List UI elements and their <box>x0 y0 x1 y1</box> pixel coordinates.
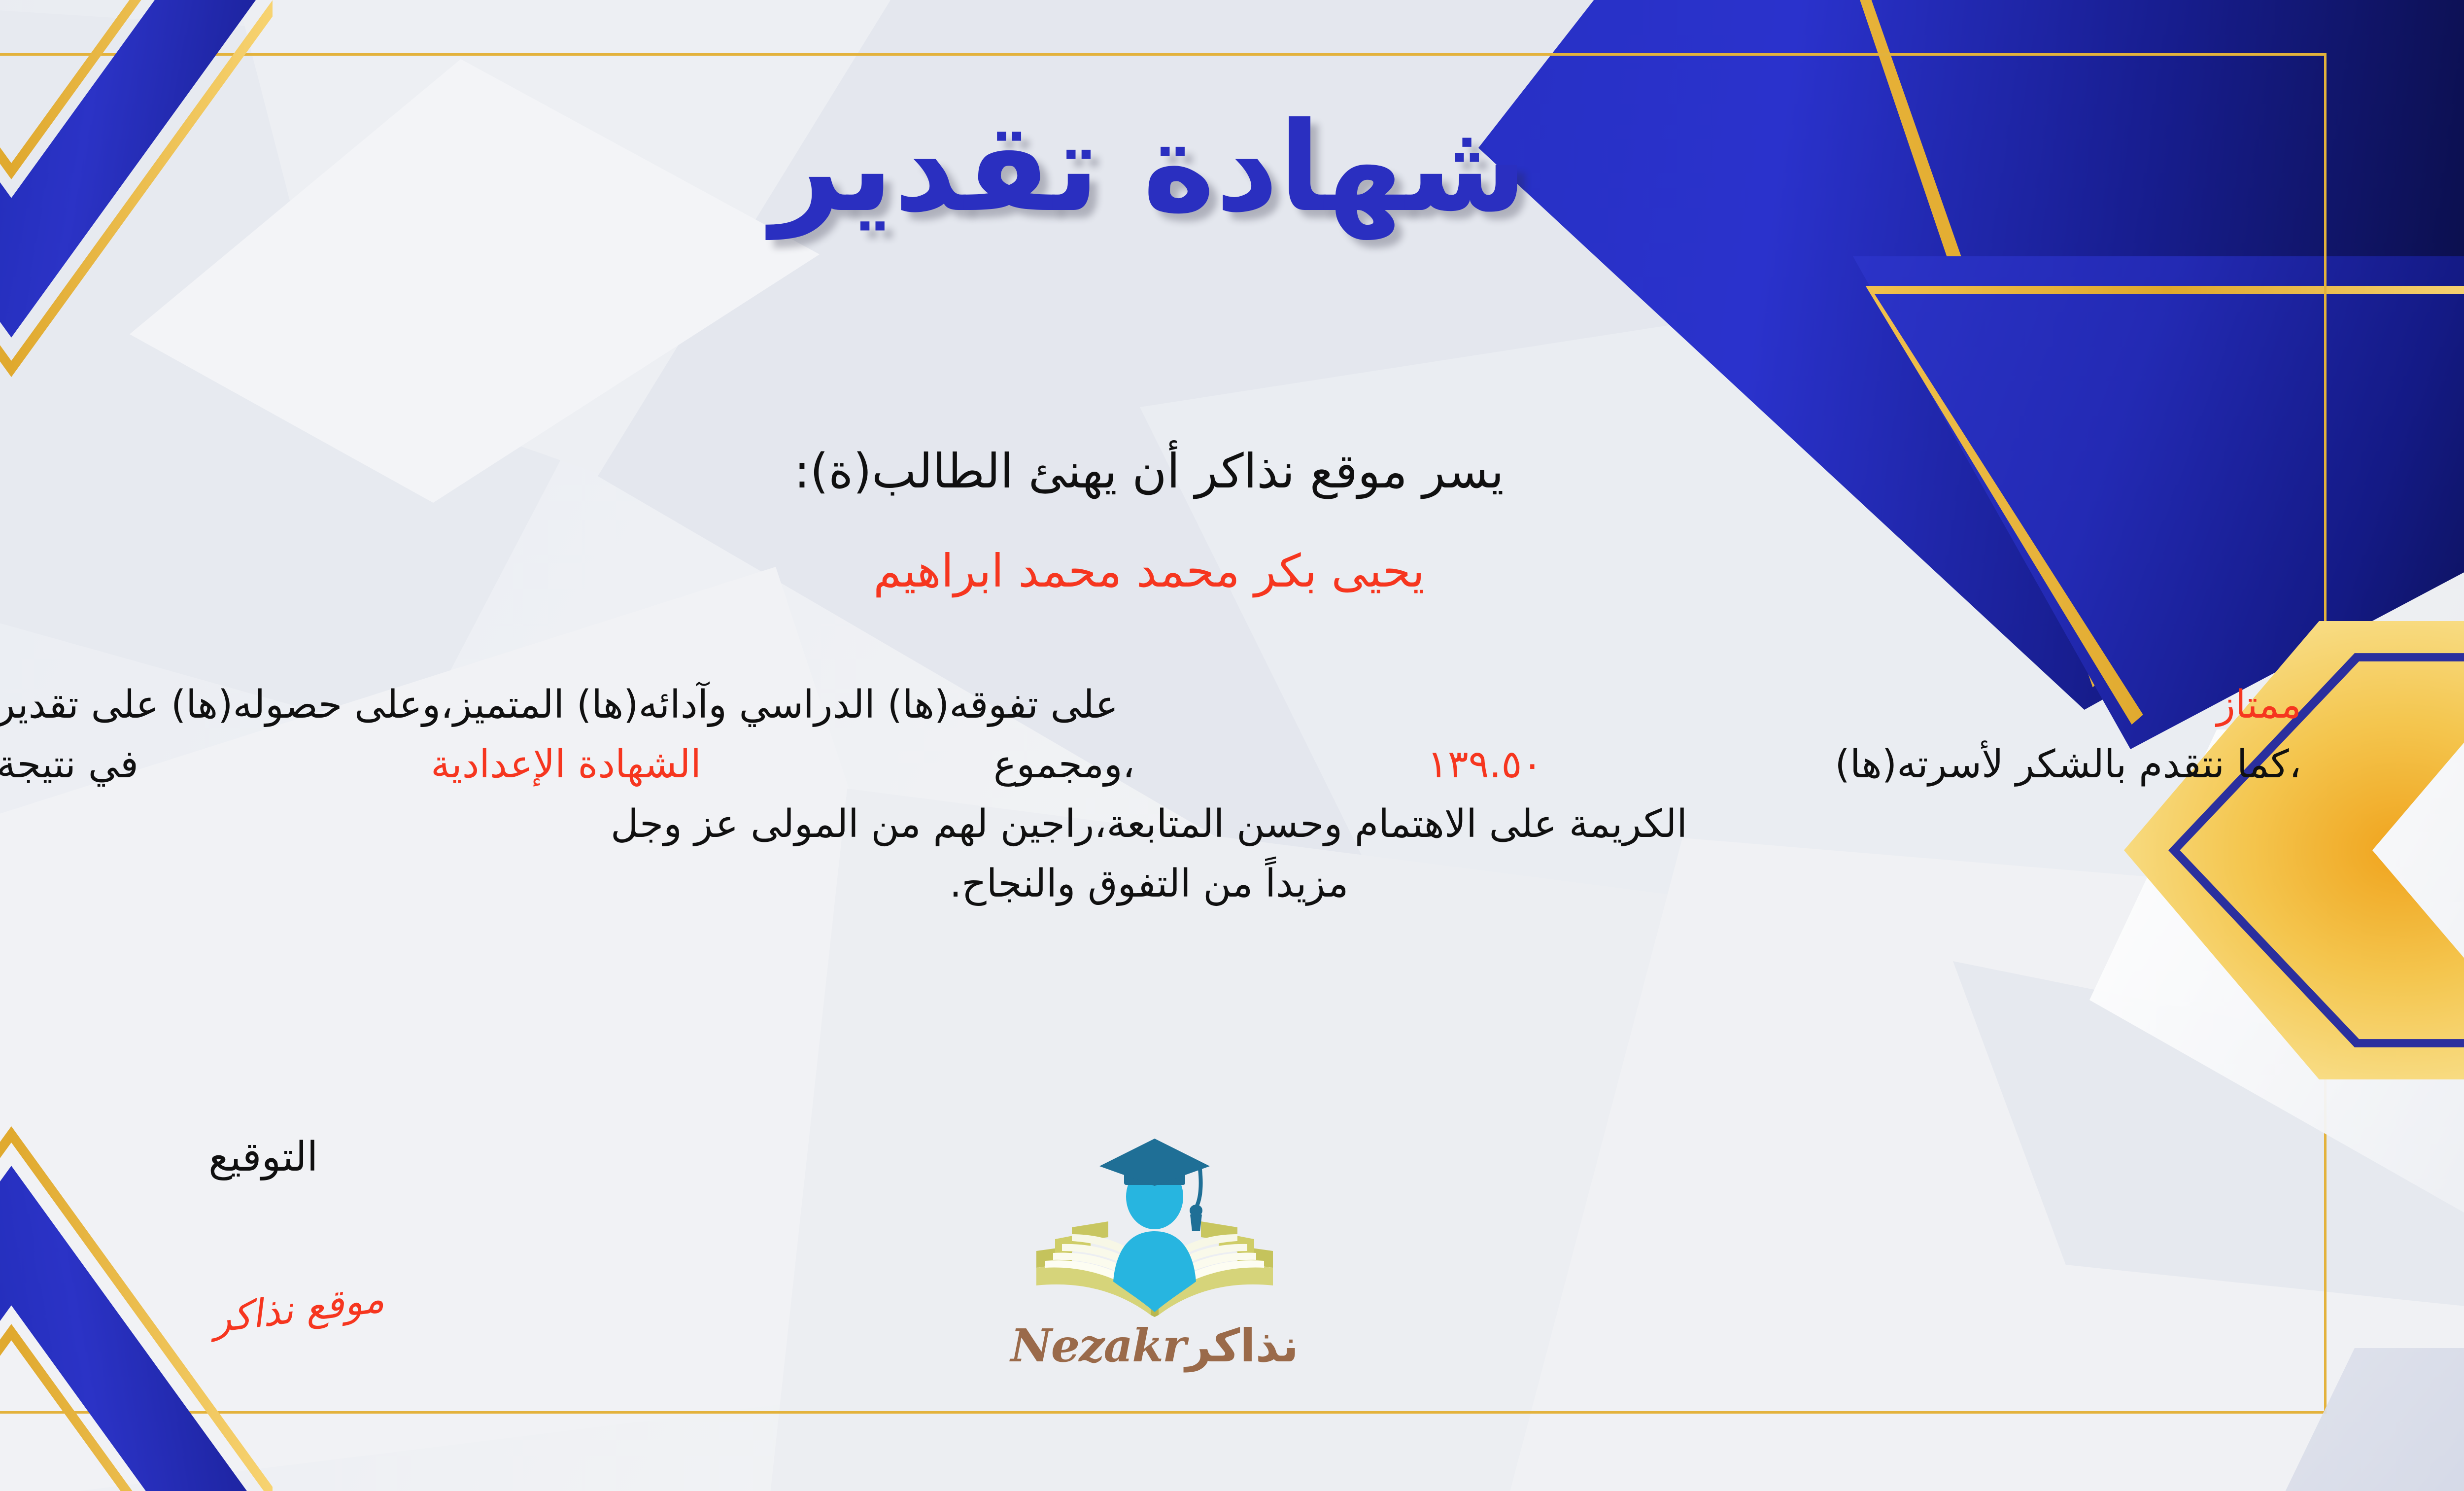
body-line-3: الكريمة على الاهتمام وحسن المتابعة،راجين… <box>0 795 2301 854</box>
certificate-title: شهادة تقدير <box>0 94 2464 242</box>
body-line-4: مزيداً من التفوق والنجاح. <box>0 854 2301 914</box>
grade-value: ممتاز <box>2217 675 2301 735</box>
graduation-book-icon <box>1017 1134 1293 1326</box>
student-name: يحيى بكر محمد محمد ابراهيم <box>0 545 2464 597</box>
body-line-1: ممتاز على تفوقه(ها) الدراسي وآدائه(ها) ا… <box>0 675 2301 735</box>
body-line-1-text: على تفوقه(ها) الدراسي وآدائه(ها) المتميز… <box>0 675 1118 735</box>
signature-label: التوقيع <box>208 1134 318 1180</box>
score-value: ١٣٩.٥٠ <box>1427 735 1542 795</box>
body-line-2-head: في نتيجة <box>0 735 138 795</box>
exam-name: الشهادة الإعدادية <box>431 735 701 795</box>
body-line-2-tail: ،كما نتقدم بالشكر لأسرته(ها) <box>1835 735 2301 795</box>
salutation-text: يسر موقع نذاكر أن يهنئ الطالب(ة): <box>0 444 2464 499</box>
signature-mark: موقع نذاكر <box>210 1277 387 1342</box>
logo-wordmark-latin: Nezakr <box>1011 1319 1186 1372</box>
site-logo: نذاكرNezakr <box>960 1134 1349 1410</box>
certificate-canvas: شهادة تقدير يسر موقع نذاكر أن يهنئ الطال… <box>0 0 2464 1491</box>
logo-wordmark-arabic: نذاكر <box>1185 1319 1299 1372</box>
body-line-2-middle: ،ومجموع <box>993 735 1135 795</box>
body-line-2: ،كما نتقدم بالشكر لأسرته(ها) ١٣٩.٥٠ ،ومج… <box>0 735 2301 795</box>
certificate-body: ممتاز على تفوقه(ها) الدراسي وآدائه(ها) ا… <box>0 675 2301 914</box>
logo-wordmark: نذاكرNezakr <box>960 1319 1349 1372</box>
certificate-content: شهادة تقدير يسر موقع نذاكر أن يهنئ الطال… <box>0 0 2464 1491</box>
